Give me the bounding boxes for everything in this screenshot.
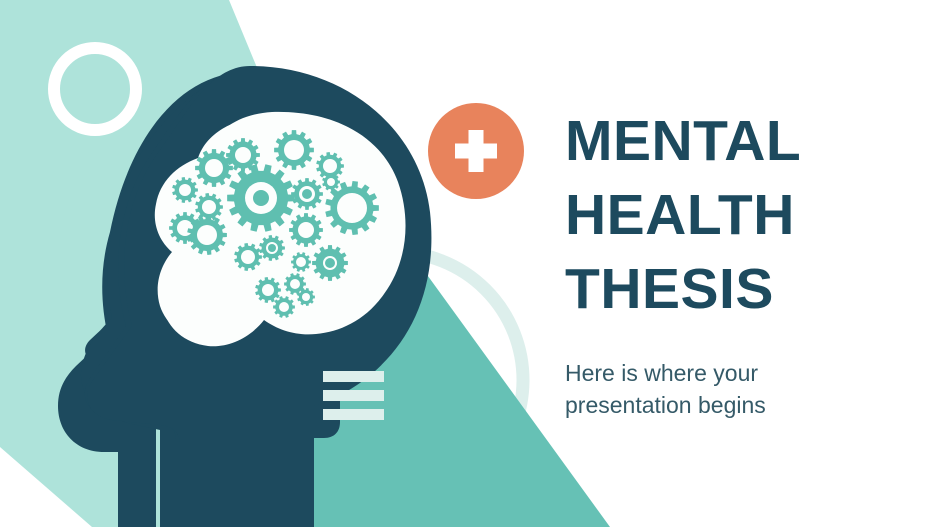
- stacked-bar: [323, 390, 384, 401]
- page-title: MENTAL HEALTH THESIS: [565, 104, 895, 326]
- medical-cross-badge: [428, 103, 524, 199]
- stacked-bar: [323, 371, 384, 382]
- title-text-block: MENTAL HEALTH THESIS Here is where your …: [565, 104, 895, 422]
- presentation-slide: MENTAL HEALTH THESIS Here is where your …: [0, 0, 937, 527]
- stacked-bar: [323, 409, 384, 420]
- stacked-bars: [323, 371, 384, 420]
- page-subtitle: Here is where your presentation begins: [565, 326, 895, 421]
